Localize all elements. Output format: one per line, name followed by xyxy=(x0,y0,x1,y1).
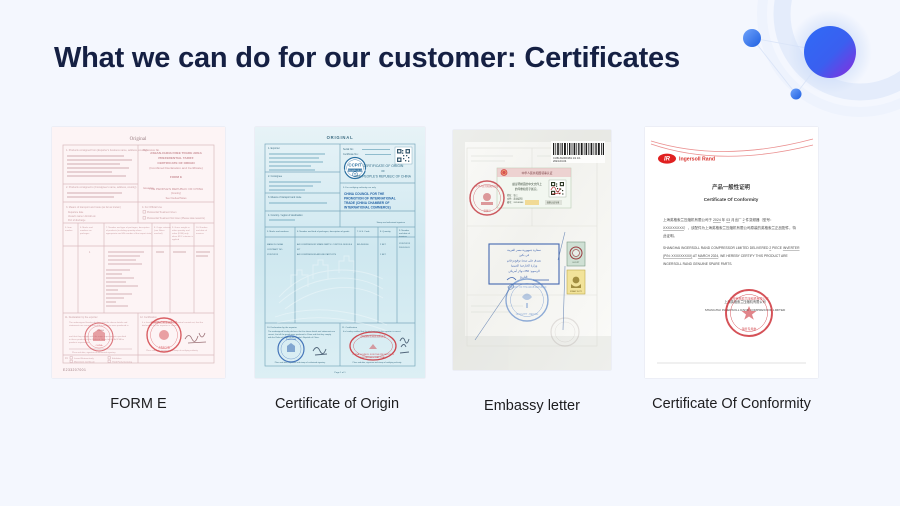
svg-text:5. Item: 5. Item xyxy=(65,226,72,229)
svg-text:Original: Original xyxy=(130,137,147,142)
revenue-stamp-green: EGYPT xyxy=(567,242,585,266)
svg-text:IR: IR xyxy=(664,157,671,163)
slide-root: What we can do for our customer: Certifi… xyxy=(0,0,900,506)
svg-text:and date of: and date of xyxy=(399,232,410,235)
svg-text:CHINA COUNCIL FOR THE: CHINA COUNCIL FOR THE xyxy=(344,192,384,196)
svg-text:(P/N: XXXXXXXXX) AT MARCH 2024: (P/N: XXXXXXXXX) AT MARCH 2024, WE HEREB… xyxy=(663,254,789,258)
svg-text:12. Certification: 12. Certification xyxy=(140,316,157,319)
svg-text:INTERNATIONAL COMMERCE): INTERNATIONAL COMMERCE) xyxy=(344,206,391,210)
svg-text:See Overleaf Notes: See Overleaf Notes xyxy=(166,197,188,200)
svg-text:CERTIFICATE OF ORIGIN: CERTIFICATE OF ORIGIN xyxy=(363,164,404,168)
certificate-image-form-e[interactable]: Original ASEAN-CHINA FREE TRADE AREA PRE… xyxy=(52,127,225,378)
svg-text:10. Number: 10. Number xyxy=(196,226,208,229)
revenue-stamp-yellow: STAMP DUTY xyxy=(567,270,585,294)
svg-text:兹证明前面的中文文件上: 兹证明前面的中文文件上 xyxy=(512,182,542,186)
svg-text:overleaf): overleaf) xyxy=(154,232,163,235)
svg-text:Movement Certificate: Movement Certificate xyxy=(74,361,95,364)
svg-text:产品一般性证明: 产品一般性证明 xyxy=(712,183,750,191)
svg-text:8. Origin criterion: 8. Origin criterion xyxy=(154,226,171,229)
svg-text:11. Certification: 11. Certification xyxy=(342,326,358,329)
svg-text:Stamp and authorized signature: Stamp and authorized signature xyxy=(377,221,406,224)
certificate-caption-form-e: FORM E xyxy=(52,396,225,412)
ir-mark: IR xyxy=(658,154,676,164)
svg-text:سفارة جمهورية مصر العربية: سفارة جمهورية مصر العربية xyxy=(507,248,541,252)
svg-text:2 SET: 2 SET xyxy=(380,244,387,246)
svg-text:Ingersoll Rand: Ingersoll Rand xyxy=(679,157,715,163)
svg-text:11. Declaration by the exporte: 11. Declaration by the exporter xyxy=(65,316,98,319)
svg-text:THE PEOPLE'S REPUBLIC OF CHINA: THE PEOPLE'S REPUBLIC OF CHINA xyxy=(355,175,412,179)
svg-text:MADE IN CHINA: MADE IN CHINA xyxy=(267,243,283,246)
svg-text:numbers on: numbers on xyxy=(80,229,92,232)
svg-text:Exhibition: Exhibition xyxy=(112,357,122,360)
svg-text:FORM E: FORM E xyxy=(170,175,182,179)
svg-text:CERTIFICATE OF ORIGIN: CERTIFICATE OF ORIGIN xyxy=(157,161,195,165)
svg-text:10. Declaration by the exporte: 10. Declaration by the exporter xyxy=(267,326,297,329)
svg-text:The undersigned hereby declare: The undersigned hereby declares that the… xyxy=(268,330,336,333)
svg-text:TRADE (CHINA CHAMBER OF: TRADE (CHINA CHAMBER OF xyxy=(344,201,389,205)
svg-text:correct, that all the goods we: correct, that all the goods were produce… xyxy=(268,333,331,336)
consular-authentication-label: 中华人民共和国领事认证 兹证明前面的中文文件上 的印章和签字属实。 xyxy=(497,168,571,208)
svg-text:3. Means of transport and rout: 3. Means of transport and route (as far … xyxy=(66,206,121,209)
svg-text:中华人民共和国领事认证: 中华人民共和国领事认证 xyxy=(522,171,553,175)
svg-text:1 SET: 1 SET xyxy=(380,254,387,256)
svg-text:value (FOB) only: value (FOB) only xyxy=(172,233,189,235)
svg-text:applied: applied xyxy=(172,239,180,241)
svg-text:declaration by the exporter is: declaration by the exporter is correct. xyxy=(142,324,178,327)
svg-text:Serial No.:: Serial No.: xyxy=(343,148,354,151)
svg-text:Certificate Of Conformity: Certificate Of Conformity xyxy=(704,197,759,202)
svg-text:Certificate No.:: Certificate No.: xyxy=(343,153,359,156)
svg-text:Departure date: Departure date xyxy=(68,211,84,214)
svg-text:CHINA COUNCIL FOR THE PROMOTIO: CHINA COUNCIL FOR THE PROMOTION xyxy=(352,353,394,356)
svg-text:(Country): (Country) xyxy=(171,192,181,195)
svg-text:OF EGYPT - BEIJING: OF EGYPT - BEIJING xyxy=(516,314,539,316)
svg-text:CCPIT: CCPIT xyxy=(348,163,361,168)
certificate-caption-certificate-of-origin: Certificate of Origin xyxy=(249,396,425,412)
svg-text:7. H.S. Code: 7. H.S. Code xyxy=(357,231,370,233)
certificate-image-embassy-letter[interactable]: CU5LXH001981 1/1 1/1 2024-03-04 中华人民共和国领… xyxy=(453,130,611,370)
svg-text:Issued Retroactively: Issued Retroactively xyxy=(74,357,95,360)
svg-text:Place and date, signature and: Place and date, signature and stamp of a… xyxy=(275,361,326,364)
svg-text:Issued in: Issued in xyxy=(143,186,154,190)
svg-text:Page 1 of 1: Page 1 of 1 xyxy=(334,372,346,374)
svg-text:of products (including quantit: of products (including quantity where xyxy=(106,229,142,232)
svg-text:2. Consignee: 2. Consignee xyxy=(268,175,283,178)
svg-text:1. Exporter: 1. Exporter xyxy=(268,147,280,150)
svg-text:when RVC criterion is: when RVC criterion is xyxy=(172,235,194,238)
svg-text:13.: 13. xyxy=(65,358,69,360)
svg-text:XXXXXXXXX），该配件为上海英格索兰压缩机有限公司原装: XXXXXXXXX），该配件为上海英格索兰压缩机有限公司原装的英格索兰正品配件，… xyxy=(663,225,797,230)
svg-text:Preferential Treatment Not Giv: Preferential Treatment Not Given (Please… xyxy=(147,217,205,220)
svg-text:OF INTERNATIONAL TRADE: OF INTERNATIONAL TRADE xyxy=(359,356,388,359)
svg-text:4. For Official Use: 4. For Official Use xyxy=(142,206,163,209)
svg-text:number: number xyxy=(65,229,73,232)
svg-text:上海英格索兰压缩机有限公司于 2024 年 03 月出厂 2: 上海英格索兰压缩机有限公司于 2024 年 03 月出厂 2 件变频器（型号： xyxy=(663,217,774,222)
certificate-image-certificate-of-conformity[interactable]: IR Ingersoll Rand 产品一般性证明 Certificate Of… xyxy=(645,127,818,378)
svg-text:AIR COMPRESSOR SPARE PARTS / C: AIR COMPRESSOR SPARE PARTS / CONTROL MOD… xyxy=(297,243,353,246)
svg-text:(Combined Declaration and Cert: (Combined Declaration and Certificate) xyxy=(149,166,202,170)
svg-text:4. Country / region of destina: 4. Country / region of destination xyxy=(268,214,303,217)
svg-text:PROMOTION OF INTERNATIONAL: PROMOTION OF INTERNATIONAL xyxy=(344,197,396,201)
svg-text:3. Means of transport and rout: 3. Means of transport and route xyxy=(268,196,302,199)
svg-text:7. Number and type of packages: 7. Number and type of packages, descript… xyxy=(106,226,150,229)
certificate-caption-embassy-letter: Embassy letter xyxy=(453,398,611,414)
svg-text:STAMP DUTY: STAMP DUTY xyxy=(570,290,583,293)
svg-text:نصدق على صحة توقيع وخاتم: نصدق على صحة توقيع وخاتم xyxy=(507,259,541,263)
svg-text:INGERSOLL RAND GENUINE SPARE P: INGERSOLL RAND GENUINE SPARE PARTS. xyxy=(663,262,732,266)
svg-text:(see Notes: (see Notes xyxy=(154,229,165,232)
svg-text:other quantity and: other quantity and xyxy=(172,229,190,232)
svg-text:上海市分会: 上海市分会 xyxy=(158,345,171,349)
certificate-gallery: Original ASEAN-CHINA FREE TRADE AREA PRE… xyxy=(0,0,900,506)
svg-text:2024-03-01: 2024-03-01 xyxy=(399,247,410,249)
national-emblem-icon xyxy=(501,169,508,176)
svg-text:5. Marks and numbers: 5. Marks and numbers xyxy=(267,230,290,233)
svg-text:CHINA: CHINA xyxy=(96,344,103,347)
certificate-caption-certificate-of-conformity: Certificate Of Conformity xyxy=(638,396,825,412)
svg-text:THE PEOPLE'S REPUBLIC OF CHINA: THE PEOPLE'S REPUBLIC OF CHINA xyxy=(149,187,204,191)
svg-text:此证明。: 此证明。 xyxy=(663,233,677,238)
svg-text:5. For certifying authority us: 5. For certifying authority use only xyxy=(343,186,377,189)
svg-text:وزارة الخارجية الصينية: وزارة الخارجية الصينية xyxy=(511,264,538,268)
svg-text:XXXXXXXX: XXXXXXXX xyxy=(267,254,279,256)
svg-text:中国国际贸易促进委员会: 中国国际贸易促进委员会 xyxy=(151,320,178,324)
svg-text:6. Number and kind of packages: 6. Number and kind of packages; descript… xyxy=(297,230,350,233)
svg-text:XXXXXXXX: XXXXXXXX xyxy=(399,243,411,245)
svg-text:9. Number: 9. Number xyxy=(399,229,409,232)
svg-text:appropriate and HS number of t: appropriate and HS number of the import … xyxy=(106,232,152,235)
svg-text:statements are correct; that a: statements are correct; that all the pro… xyxy=(69,324,129,327)
svg-text:上海英格索兰压缩机有限公司: 上海英格索兰压缩机有限公司 xyxy=(729,296,768,301)
svg-text:9. Gross weight or: 9. Gross weight or xyxy=(172,226,190,229)
svg-text:8414909090: 8414909090 xyxy=(357,244,369,246)
svg-text:Third Party Invoicing: Third Party Invoicing xyxy=(112,361,133,364)
svg-text:SHANGHAI: SHANGHAI xyxy=(286,338,297,341)
svg-text:invoices: invoices xyxy=(399,236,408,238)
svg-text:E233207001: E233207001 xyxy=(63,368,86,372)
svg-text:PREFERENTIAL TARIFF: PREFERENTIAL TARIFF xyxy=(158,156,193,160)
svg-text:ORIGINAL: ORIGINAL xyxy=(327,135,354,140)
svg-text:2024-03-04: 2024-03-04 xyxy=(553,159,567,163)
svg-text:销售专用章: 销售专用章 xyxy=(742,326,757,331)
svg-text:Vessel's name / Aircraft etc.: Vessel's name / Aircraft etc. xyxy=(68,215,97,218)
svg-text:Preferential Treatment Given: Preferential Treatment Given xyxy=(147,211,177,214)
svg-text:Place and date, signature and: Place and date, signature and stamp of c… xyxy=(353,361,402,364)
svg-text:Place and date, signature of a: Place and date, signature of authorised … xyxy=(72,351,115,354)
svg-text:في بكين: في بكين xyxy=(519,253,530,257)
svg-text:EGYPT: EGYPT xyxy=(573,262,581,264)
svg-text:packages: packages xyxy=(80,233,90,235)
svg-text:8. Quantity: 8. Quantity xyxy=(380,230,391,233)
svg-text:الرسوم: 250 دولار أمريكي: الرسوم: 250 دولار أمريكي xyxy=(508,268,540,273)
svg-text:Port of discharge: Port of discharge xyxy=(68,219,86,222)
svg-text:CONTRACT NO.: CONTRACT NO. xyxy=(267,248,283,251)
svg-text:的印章和签字属实。: 的印章和签字属实。 xyxy=(515,187,539,191)
svg-text:OF: OF xyxy=(381,169,385,173)
svg-text:1. Products consigned from (Ex: 1. Products consigned from (Exporter's b… xyxy=(66,149,148,152)
svg-text:2. Products consigned to (Cons: 2. Products consigned to (Consignee's na… xyxy=(66,186,137,189)
svg-text:AIR COMPRESSOR AIR END PART KI: AIR COMPRESSOR AIR END PART KITS xyxy=(297,253,337,256)
certificate-image-certificate-of-origin[interactable]: ORIGINAL xyxy=(255,127,425,378)
svg-text:6. Marks and: 6. Marks and xyxy=(80,226,93,229)
svg-text:SHANGHAI INGERSOLL RAND COMPRE: SHANGHAI INGERSOLL RAND COMPRESSOR LIMIT… xyxy=(663,246,800,250)
svg-text:invoices: invoices xyxy=(196,233,205,235)
barcode: CU5LXH001981 1/1 1/1 2024-03-04 xyxy=(551,141,605,163)
svg-text:and date of: and date of xyxy=(196,229,207,232)
qr-code xyxy=(395,147,412,164)
